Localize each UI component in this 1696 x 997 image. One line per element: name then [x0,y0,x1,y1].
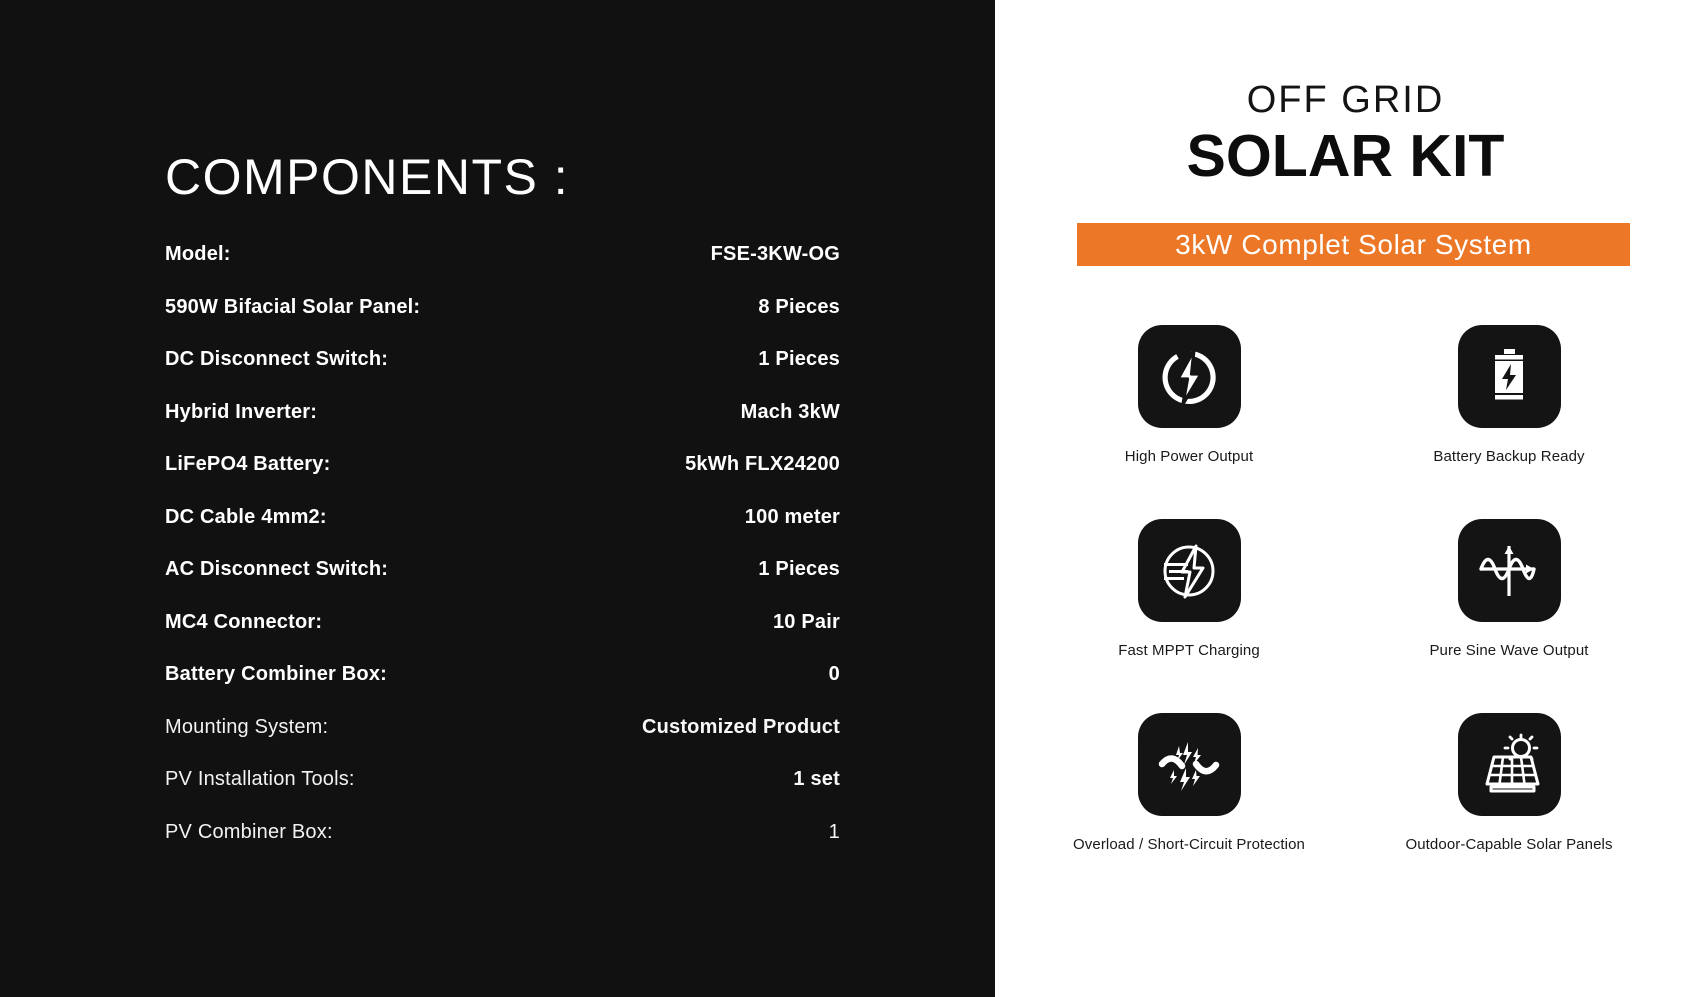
spec-label: MC4 Connector: [165,611,322,634]
feature-row: Fast MPPT Charging Pure Sine Wave Output [1029,519,1669,713]
feature-caption: Outdoor-Capable Solar Panels [1405,836,1612,853]
spec-label: Model: [165,243,231,266]
spec-label: 590W Bifacial Solar Panel: [165,296,420,319]
spec-value: 100 meter [745,506,840,529]
broken-wire-spark-icon [1138,713,1241,816]
poster-root: COMPONENTS : Model: FSE-3KW-OG 590W Bifa… [0,0,1696,997]
feature-item: High Power Output [1029,325,1349,519]
spec-row: Hybrid Inverter: Mach 3kW [165,401,840,454]
kit-subtitle-banner: 3kW Complet Solar System [1077,223,1630,266]
components-panel: COMPONENTS : Model: FSE-3KW-OG 590W Bifa… [0,0,995,997]
components-heading: COMPONENTS : [165,148,569,206]
spec-label: PV Installation Tools: [165,768,355,791]
feature-item: Pure Sine Wave Output [1349,519,1669,713]
solar-panel-sun-icon [1458,713,1561,816]
feature-row: High Power Output Battery Backup Ready [1029,325,1669,519]
feature-caption: Fast MPPT Charging [1118,642,1260,659]
kit-banner-label: 3kW Complet Solar System [1175,229,1532,261]
spec-value: 10 Pair [773,611,840,634]
sine-wave-icon [1458,519,1561,622]
kit-title: SOLAR KIT [995,122,1696,190]
spec-label: PV Combiner Box: [165,821,333,844]
spec-row: LiFePO4 Battery: 5kWh FLX24200 [165,453,840,506]
spec-label: AC Disconnect Switch: [165,558,388,581]
spec-value: FSE-3KW-OG [711,243,840,266]
spec-label: DC Cable 4mm2: [165,506,327,529]
spec-row: PV Combiner Box: 1 [165,821,840,874]
spec-label: Mounting System: [165,716,328,739]
battery-bolt-icon [1458,325,1561,428]
spec-label: Battery Combiner Box: [165,663,387,686]
fast-charge-bolt-icon [1138,519,1241,622]
feature-caption: Pure Sine Wave Output [1429,642,1588,659]
feature-caption: Battery Backup Ready [1433,448,1584,465]
product-panel: OFF GRID SOLAR KIT 3kW Complet Solar Sys… [995,0,1696,997]
feature-item: Fast MPPT Charging [1029,519,1349,713]
spec-value: 1 Pieces [758,348,840,371]
spec-row: MC4 Connector: 10 Pair [165,611,840,664]
spec-row: 590W Bifacial Solar Panel: 8 Pieces [165,296,840,349]
spec-value: Customized Product [642,716,840,739]
spec-row: DC Cable 4mm2: 100 meter [165,506,840,559]
spec-row: Mounting System: Customized Product [165,716,840,769]
spec-value: 0 [829,663,840,686]
spec-row: Battery Combiner Box: 0 [165,663,840,716]
feature-grid: High Power Output Battery Backup Ready [1029,325,1669,907]
feature-item: Battery Backup Ready [1349,325,1669,519]
spec-value: 1 Pieces [758,558,840,581]
spec-label: LiFePO4 Battery: [165,453,330,476]
spec-row: PV Installation Tools: 1 set [165,768,840,821]
spec-label: DC Disconnect Switch: [165,348,388,371]
kit-eyebrow: OFF GRID [995,79,1696,122]
spec-label: Hybrid Inverter: [165,401,317,424]
spec-value: 8 Pieces [758,296,840,319]
spec-value: Mach 3kW [741,401,840,424]
feature-caption: High Power Output [1125,448,1253,465]
feature-item: Overload / Short-Circuit Protection [1029,713,1349,907]
spec-row: DC Disconnect Switch: 1 Pieces [165,348,840,401]
bolt-circle-icon [1138,325,1241,428]
spec-value: 1 set [793,768,840,791]
spec-value: 5kWh FLX24200 [685,453,840,476]
spec-row: Model: FSE-3KW-OG [165,243,840,296]
spec-value: 1 [829,821,840,844]
feature-row: Overload / Short-Circuit Protection [1029,713,1669,907]
spec-row: AC Disconnect Switch: 1 Pieces [165,558,840,611]
feature-item: Outdoor-Capable Solar Panels [1349,713,1669,907]
components-spec-list: Model: FSE-3KW-OG 590W Bifacial Solar Pa… [165,243,840,873]
feature-caption: Overload / Short-Circuit Protection [1073,836,1305,853]
